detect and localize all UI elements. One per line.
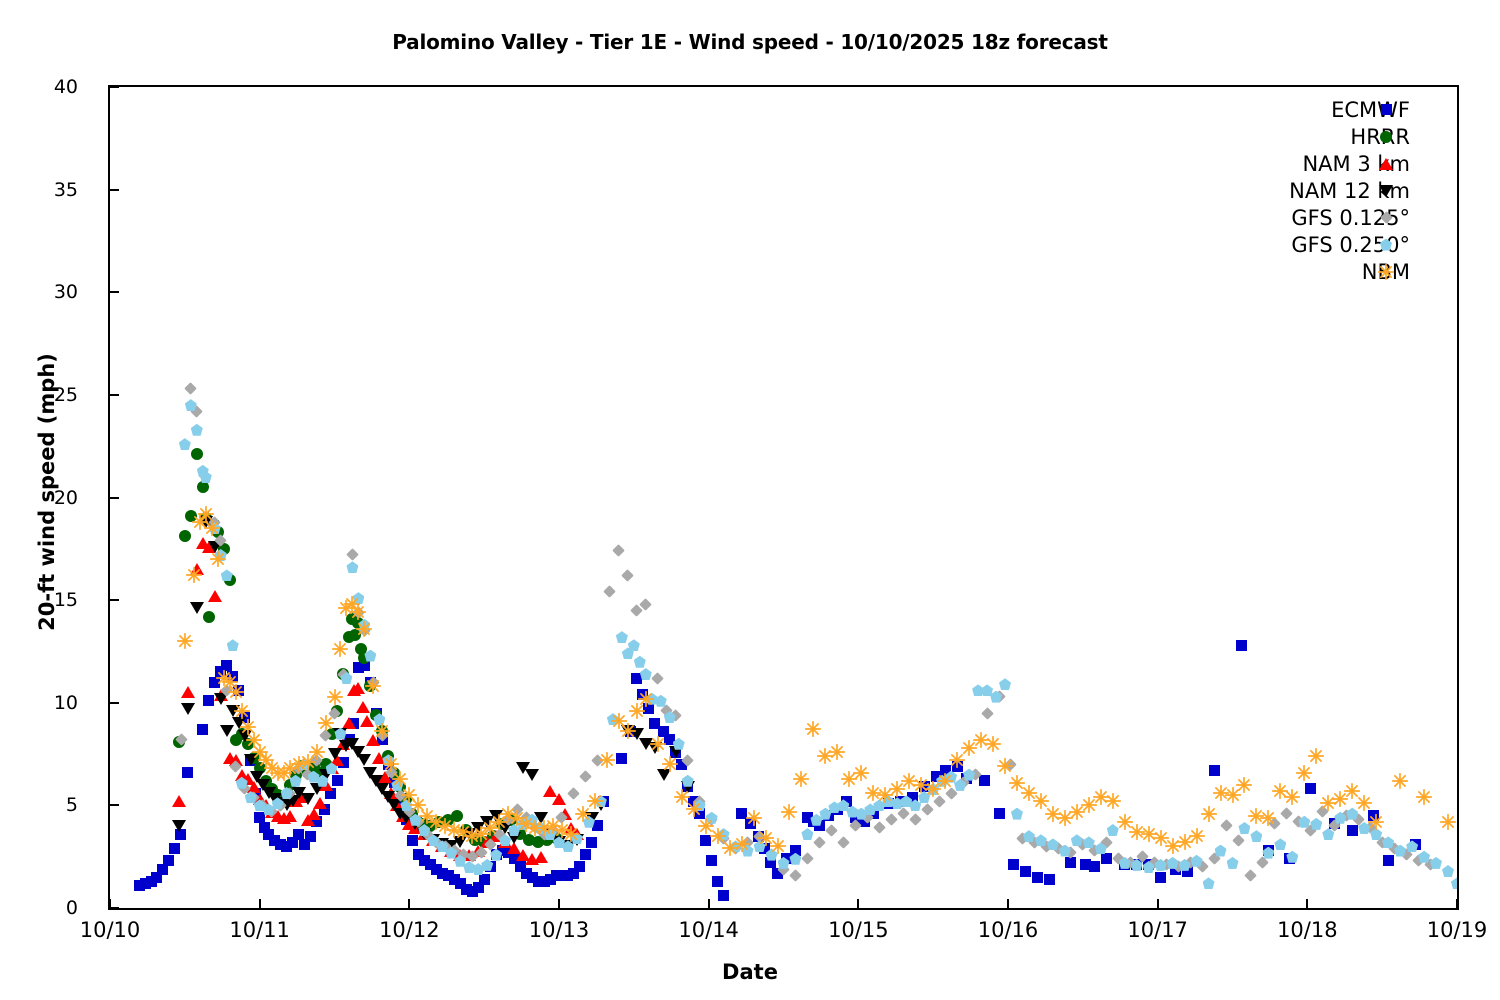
data-point-gfs-0-250 (754, 840, 766, 852)
y-tick-label: 10 (20, 692, 78, 714)
y-tick-label: 35 (20, 179, 78, 201)
data-point-gfs-0-250 (326, 762, 338, 774)
data-point-nam-12-km (393, 808, 407, 820)
data-point-ecmwf (1305, 783, 1316, 794)
data-point-gfs-0-250 (1250, 830, 1262, 842)
legend-marker-triangle-up-icon (1376, 154, 1396, 174)
data-point-gfs-0-125 (592, 754, 605, 767)
data-point-gfs-0-125 (861, 811, 874, 824)
data-point-nam-3-km (208, 590, 222, 602)
data-point-nam-3-km (558, 808, 572, 820)
data-point-gfs-0-250 (346, 561, 358, 573)
data-point-nbm (674, 789, 690, 805)
data-point-nam-12-km (256, 779, 270, 791)
data-point-nam-3-km (325, 762, 339, 774)
data-point-ecmwf (497, 845, 508, 856)
data-point-gfs-0-250 (436, 840, 448, 852)
data-point-gfs-0-250 (819, 808, 831, 820)
legend-item-label: ECMWF (1331, 98, 1410, 122)
data-point-gfs-0-250 (427, 834, 439, 846)
data-point-gfs-0-125 (493, 828, 506, 841)
data-point-ecmwf (841, 796, 852, 807)
data-point-gfs-0-250 (179, 438, 191, 450)
data-point-gfs-0-250 (197, 465, 209, 477)
data-point-hrrr (197, 481, 209, 493)
data-point-gfs-0-125 (1184, 856, 1197, 869)
data-point-gfs-0-125 (873, 822, 886, 835)
data-point-gfs-0-250 (553, 836, 565, 848)
data-point-nbm (482, 820, 498, 836)
legend-item-nam-12-km[interactable]: NAM 12 km (1180, 177, 1410, 204)
data-point-ecmwf (940, 765, 951, 776)
data-point-gfs-0-250 (334, 728, 346, 740)
data-point-ecmwf (287, 837, 298, 848)
data-point-hrrr (248, 752, 260, 764)
data-point-ecmwf (1347, 825, 1358, 836)
data-point-hrrr (541, 834, 553, 846)
data-point-gfs-0-125 (376, 729, 389, 742)
data-point-nbm (374, 723, 390, 739)
data-point-ecmwf (197, 724, 208, 735)
data-point-gfs-0-125 (175, 733, 188, 746)
data-point-ecmwf (1080, 859, 1091, 870)
data-point-ecmwf (1236, 640, 1247, 651)
data-point-gfs-0-125 (813, 836, 826, 849)
data-point-hrrr (254, 762, 266, 774)
data-point-ecmwf (344, 734, 355, 745)
data-point-gfs-0-125 (1424, 859, 1437, 872)
data-point-nam-12-km (220, 725, 234, 737)
data-point-gfs-0-125 (1005, 758, 1018, 771)
data-point-nam-3-km (417, 828, 431, 840)
data-point-nam-12-km (417, 828, 431, 840)
data-point-nam-3-km (525, 853, 539, 865)
data-point-hrrr (266, 783, 278, 795)
data-point-nbm (276, 765, 292, 781)
data-point-ecmwf (694, 808, 705, 819)
data-point-gfs-0-125 (945, 787, 958, 800)
data-point-gfs-0-250 (1262, 847, 1274, 859)
data-point-nbm (985, 736, 1001, 752)
data-point-nbm (1225, 787, 1241, 803)
data-point-nbm (650, 736, 666, 752)
data-point-hrrr (523, 834, 535, 846)
data-point-nam-12-km (471, 822, 485, 834)
y-tick-label: 25 (20, 384, 78, 406)
data-point-nam-12-km (310, 783, 324, 795)
data-point-gfs-0-125 (190, 405, 203, 418)
data-point-gfs-0-250 (900, 795, 912, 807)
data-point-ecmwf (574, 861, 585, 872)
data-point-nam-12-km (489, 810, 503, 822)
data-point-gfs-0-125 (1136, 850, 1149, 863)
data-point-gfs-0-125 (837, 836, 850, 849)
data-point-nam-3-km (498, 836, 512, 848)
data-point-gfs-0-250 (801, 828, 813, 840)
data-point-gfs-0-125 (1304, 824, 1317, 837)
data-point-gfs-0-125 (969, 768, 982, 781)
data-point-nbm (204, 520, 220, 536)
data-point-gfs-0-250 (227, 639, 239, 651)
data-point-gfs-0-125 (385, 766, 398, 779)
data-point-gfs-0-125 (660, 705, 673, 718)
data-point-ecmwf (1143, 859, 1154, 870)
data-point-ecmwf (377, 734, 388, 745)
data-point-gfs-0-125 (753, 830, 766, 843)
data-point-nam-12-km (232, 717, 246, 729)
data-point-ecmwf (203, 695, 214, 706)
data-point-gfs-0-125 (247, 791, 260, 804)
data-point-gfs-0-250 (616, 631, 628, 643)
legend: ECMWFHRRRNAM 3 kmNAM 12 kmGFS 0.125°GFS … (1180, 96, 1410, 285)
data-point-nbm (300, 754, 316, 770)
data-point-gfs-0-125 (502, 813, 515, 826)
data-point-gfs-0-125 (283, 787, 296, 800)
data-point-nam-12-km (268, 793, 282, 805)
data-point-gfs-0-125 (1364, 822, 1377, 835)
data-point-gfs-0-125 (1100, 836, 1113, 849)
data-point-gfs-0-250 (778, 857, 790, 869)
data-point-nam-12-km (286, 795, 300, 807)
data-point-ecmwf (1008, 859, 1019, 870)
data-point-gfs-0-125 (466, 850, 479, 863)
data-point-gfs-0-250 (200, 471, 212, 483)
legend-item-ecmwf[interactable]: ECMWF (1180, 96, 1410, 123)
data-point-nbm (710, 828, 726, 844)
data-point-gfs-0-250 (562, 840, 574, 852)
data-point-hrrr (343, 631, 355, 643)
data-point-hrrr (400, 793, 412, 805)
data-point-gfs-0-250 (1274, 838, 1286, 850)
data-point-nbm (1344, 783, 1360, 799)
data-point-gfs-0-125 (1053, 842, 1066, 855)
data-point-gfs-0-250 (873, 799, 885, 811)
data-point-gfs-0-125 (556, 811, 569, 824)
data-point-ecmwf (311, 816, 322, 827)
data-point-ecmwf (712, 876, 723, 887)
legend-item-gfs-0-250[interactable]: GFS 0.250° (1180, 231, 1410, 258)
data-point-ecmwf (539, 876, 550, 887)
data-point-gfs-0-250 (358, 619, 370, 631)
legend-item-hrrr[interactable]: HRRR (1180, 123, 1410, 150)
data-point-gfs-0-125 (1029, 836, 1042, 849)
data-point-ecmwf (1368, 810, 1379, 821)
data-point-gfs-0-250 (1334, 812, 1346, 824)
data-point-gfs-0-125 (421, 828, 434, 841)
data-point-hrrr (236, 728, 248, 740)
data-point-gfs-0-250 (1155, 859, 1167, 871)
data-point-gfs-0-250 (945, 771, 957, 783)
data-point-gfs-0-250 (622, 647, 634, 659)
data-point-nbm (1272, 783, 1288, 799)
data-point-nbm (186, 567, 202, 583)
data-point-gfs-0-125 (475, 846, 488, 859)
data-point-nam-3-km (471, 845, 485, 857)
data-point-ecmwf (254, 812, 265, 823)
data-point-nam-12-km (525, 769, 539, 781)
data-point-gfs-0-250 (646, 693, 658, 705)
data-point-gfs-0-250 (1035, 834, 1047, 846)
data-point-gfs-0-125 (220, 684, 233, 697)
data-point-nbm (401, 787, 417, 803)
data-point-hrrr (505, 814, 517, 826)
data-point-nbm (1105, 793, 1121, 809)
data-point-nam-12-km (292, 787, 306, 799)
data-point-gfs-0-125 (310, 754, 323, 767)
data-point-nbm (1057, 810, 1073, 826)
data-point-nbm (446, 822, 462, 838)
data-point-gfs-0-250 (1442, 865, 1454, 877)
data-point-nam-12-km (399, 812, 413, 824)
data-point-nbm (925, 781, 941, 797)
data-point-nbm (554, 822, 570, 838)
data-point-ecmwf (146, 876, 157, 887)
data-point-gfs-0-250 (766, 849, 778, 861)
data-point-nbm (464, 828, 480, 844)
data-point-nam-3-km (564, 822, 578, 834)
data-point-nbm (545, 818, 561, 834)
data-point-gfs-0-250 (499, 834, 511, 846)
data-point-gfs-0-250 (1227, 857, 1239, 869)
data-point-gfs-0-250 (1298, 816, 1310, 828)
data-point-gfs-0-250 (855, 808, 867, 820)
data-point-gfs-0-125 (547, 824, 560, 837)
data-point-gfs-0-125 (274, 799, 287, 812)
data-point-hrrr (272, 789, 284, 801)
data-point-nam-3-km (196, 537, 210, 549)
data-point-nam-12-km (552, 836, 566, 848)
data-point-nam-12-km (214, 693, 228, 705)
data-point-nbm (1165, 838, 1181, 854)
x-axis-label: Date (0, 960, 1500, 984)
data-point-gfs-0-250 (673, 738, 685, 750)
data-point-hrrr (460, 824, 472, 836)
data-point-ecmwf (353, 662, 364, 673)
data-point-gfs-0-250 (682, 775, 694, 787)
data-point-ecmwf (319, 804, 330, 815)
data-point-gfs-0-125 (651, 672, 664, 685)
data-point-ecmwf (269, 835, 280, 846)
chart-page: Palomino Valley - Tier 1E - Wind speed -… (0, 0, 1500, 1000)
data-point-nam-3-km (241, 773, 255, 785)
data-point-hrrr (394, 781, 406, 793)
data-point-nam-3-km (202, 541, 216, 553)
data-point-gfs-0-125 (681, 754, 694, 767)
data-point-nbm (770, 838, 786, 854)
data-point-nam-12-km (594, 799, 608, 811)
data-point-ecmwf (1182, 866, 1193, 877)
data-point-nbm (1009, 775, 1025, 791)
data-point-gfs-0-125 (403, 805, 416, 818)
data-point-nbm (536, 820, 552, 836)
data-point-gfs-0-250 (445, 847, 457, 859)
data-point-nbm (527, 820, 543, 836)
data-point-nbm (937, 773, 953, 789)
legend-item-nam-3-km[interactable]: NAM 3 km (1180, 150, 1410, 177)
data-point-hrrr (349, 629, 361, 641)
data-point-gfs-0-250 (245, 791, 257, 803)
y-tick-label: 15 (20, 589, 78, 611)
data-point-ecmwf (850, 812, 861, 823)
data-point-gfs-0-125 (580, 770, 593, 783)
data-point-ecmwf (1032, 872, 1043, 883)
data-point-nam-3-km (214, 689, 228, 701)
data-point-gfs-0-125 (993, 690, 1006, 703)
data-point-hrrr (346, 613, 358, 625)
data-point-gfs-0-125 (897, 807, 910, 820)
data-point-ecmwf (443, 870, 454, 881)
data-point-ecmwf (407, 835, 418, 846)
data-point-ecmwf (753, 831, 764, 842)
data-point-gfs-0-250 (718, 828, 730, 840)
data-point-nam-3-km (396, 810, 410, 822)
data-point-gfs-0-125 (1244, 869, 1257, 882)
data-point-ecmwf (931, 771, 942, 782)
y-tick-label: 5 (20, 794, 78, 816)
data-point-gfs-0-250 (936, 775, 948, 787)
data-point-nam-3-km (223, 752, 237, 764)
data-point-gfs-0-125 (1388, 842, 1401, 855)
data-point-nam-12-km (387, 799, 401, 811)
data-point-gfs-0-125 (457, 848, 470, 861)
data-point-nbm (698, 818, 714, 834)
data-point-gfs-0-250 (1203, 877, 1215, 889)
data-point-gfs-0-125 (1172, 861, 1185, 874)
data-point-ecmwf (413, 849, 424, 860)
data-point-ecmwf (637, 689, 648, 700)
data-point-gfs-0-125 (1076, 838, 1089, 851)
data-point-gfs-0-250 (236, 777, 248, 789)
data-point-hrrr (331, 705, 343, 717)
legend-item-gfs-0-125[interactable]: GFS 0.125° (1180, 204, 1410, 231)
data-point-ecmwf (808, 816, 819, 827)
data-point-ecmwf (1410, 839, 1421, 850)
data-point-nam-3-km (378, 771, 392, 783)
data-point-nam-12-km (648, 742, 662, 754)
data-point-gfs-0-250 (1107, 824, 1119, 836)
data-point-gfs-0-250 (221, 569, 233, 581)
data-point-ecmwf (979, 775, 990, 786)
data-point-gfs-0-250 (281, 787, 293, 799)
data-point-ecmwf (598, 796, 609, 807)
data-point-gfs-0-125 (849, 820, 862, 833)
data-point-gfs-0-250 (1370, 828, 1382, 840)
data-point-gfs-0-125 (568, 787, 581, 800)
data-point-nam-3-km (351, 682, 365, 694)
data-point-gfs-0-125 (448, 844, 461, 857)
data-point-gfs-0-125 (184, 382, 197, 395)
data-point-nbm (1081, 797, 1097, 813)
data-point-nbm (344, 596, 360, 612)
data-point-ecmwf (503, 847, 514, 858)
data-point-gfs-0-250 (481, 859, 493, 871)
data-point-hrrr (200, 512, 212, 524)
data-point-nbm (638, 691, 654, 707)
data-point-nbm (913, 777, 929, 793)
data-point-gfs-0-250 (463, 861, 475, 873)
data-point-ecmwf (1170, 864, 1181, 875)
data-point-gfs-0-250 (1430, 857, 1442, 869)
data-point-nbm (1284, 789, 1300, 805)
data-point-hrrr (191, 448, 203, 460)
data-point-gfs-0-250 (418, 824, 430, 836)
data-point-gfs-0-250 (1119, 857, 1131, 869)
data-point-ecmwf (765, 857, 776, 868)
data-point-gfs-0-125 (717, 832, 730, 845)
data-point-nam-3-km (259, 799, 273, 811)
data-point-hrrr (370, 709, 382, 721)
data-point-nbm (252, 744, 268, 760)
data-point-nam-3-km (360, 715, 374, 727)
data-point-nam-3-km (552, 793, 566, 805)
data-point-gfs-0-125 (777, 863, 790, 876)
data-point-ecmwf (670, 747, 681, 758)
data-point-ecmwf (1209, 765, 1220, 776)
data-point-gfs-0-125 (337, 668, 350, 681)
data-point-nam-3-km (229, 754, 243, 766)
data-point-gfs-0-125 (909, 813, 922, 826)
data-point-ecmwf (1131, 859, 1142, 870)
data-point-nbm (662, 756, 678, 772)
data-point-nbm (210, 551, 226, 567)
data-point-nam-12-km (208, 541, 222, 553)
x-tick-label: 10/18 (1277, 918, 1338, 942)
data-point-gfs-0-125 (1112, 852, 1125, 865)
data-point-nbm (1093, 789, 1109, 805)
legend-item-nbm[interactable]: NBM (1180, 258, 1410, 285)
data-point-nbm (192, 514, 208, 530)
data-point-gfs-0-250 (990, 691, 1002, 703)
data-point-hrrr (290, 769, 302, 781)
data-point-nam-3-km (342, 717, 356, 729)
data-point-ecmwf (883, 798, 894, 809)
data-point-nam-12-km (226, 705, 240, 717)
data-point-ecmwf (215, 666, 226, 677)
data-point-hrrr (469, 834, 481, 846)
data-point-gfs-0-125 (1017, 832, 1030, 845)
data-point-nam-12-km (570, 834, 584, 846)
data-point-gfs-0-250 (185, 399, 197, 411)
data-point-ecmwf (338, 757, 349, 768)
data-point-nam-12-km (262, 787, 276, 799)
data-point-nbm (997, 758, 1013, 774)
data-point-nam-3-km (366, 734, 380, 746)
data-point-ecmwf (545, 874, 556, 885)
data-point-gfs-0-250 (472, 863, 484, 875)
data-point-ecmwf (263, 829, 274, 840)
data-point-nbm (1248, 808, 1264, 824)
data-point-nbm (177, 633, 193, 649)
data-point-gfs-0-125 (358, 625, 371, 638)
data-point-nam-12-km (172, 820, 186, 832)
data-point-ecmwf (365, 677, 376, 688)
data-point-gfs-0-250 (1394, 845, 1406, 857)
data-point-nbm (383, 756, 399, 772)
legend-marker-square-icon (1376, 100, 1396, 120)
data-point-ecmwf (781, 853, 792, 864)
data-point-ecmwf (772, 868, 783, 879)
data-point-ecmwf (299, 839, 310, 850)
data-point-ecmwf (157, 864, 168, 875)
data-point-nam-12-km (480, 816, 494, 828)
data-point-ecmwf (461, 884, 472, 895)
y-tick-label: 0 (20, 897, 78, 919)
data-point-ecmwf (209, 677, 220, 688)
data-point-gfs-0-250 (209, 522, 221, 534)
data-point-hrrr (230, 734, 242, 746)
data-point-nbm (1296, 765, 1312, 781)
data-point-nam-3-km (462, 849, 476, 861)
